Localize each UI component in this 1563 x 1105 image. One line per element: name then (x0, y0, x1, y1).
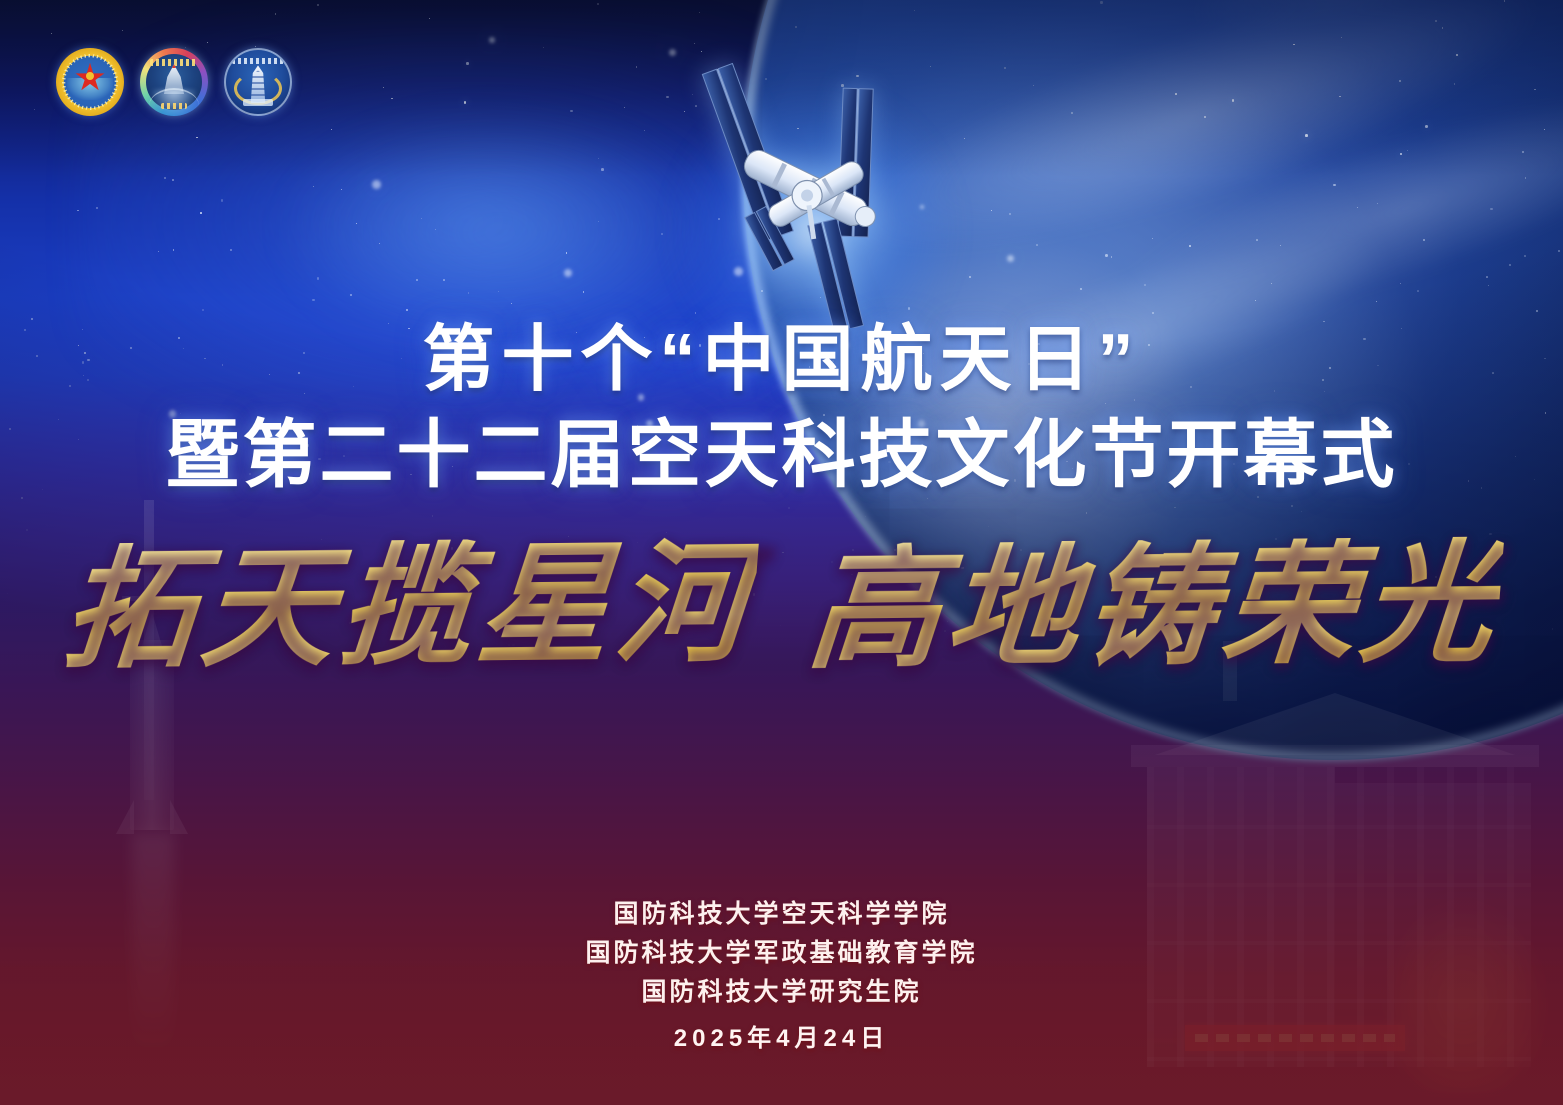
poster-canvas: 第十个“中国航天日” 暨第二十二届空天科技文化节开幕式 拓天揽星河 高地铸荣光 … (0, 0, 1563, 1105)
organizer-line-3: 国防科技大学研究生院 (0, 973, 1563, 1012)
slogan-block: 拓天揽星河 高地铸荣光 (0, 540, 1563, 675)
nudt-university-emblem-icon[interactable] (56, 48, 124, 116)
organizer-line-2: 国防科技大学军政基础教育学院 (0, 934, 1563, 973)
headline-line-1: 第十个“中国航天日” (0, 322, 1563, 398)
headline-block: 第十个“中国航天日” 暨第二十二届空天科技文化节开幕式 (0, 322, 1563, 495)
organizer-line-1: 国防科技大学空天科学学院 (0, 895, 1563, 934)
slogan-part-2: 高地铸荣光 (803, 536, 1504, 678)
emblem-row (56, 48, 292, 116)
graduate-school-emblem-icon[interactable] (224, 48, 292, 116)
slogan-part-1: 拓天揽星河 (59, 536, 760, 678)
footer-block: 国防科技大学空天科学学院 国防科技大学军政基础教育学院 国防科技大学研究生院 2… (0, 895, 1563, 1053)
event-date: 2025年4月24日 (0, 1018, 1563, 1053)
headline-line-2: 暨第二十二届空天科技文化节开幕式 (0, 416, 1563, 494)
aerospace-culture-festival-emblem-icon[interactable] (140, 48, 208, 116)
